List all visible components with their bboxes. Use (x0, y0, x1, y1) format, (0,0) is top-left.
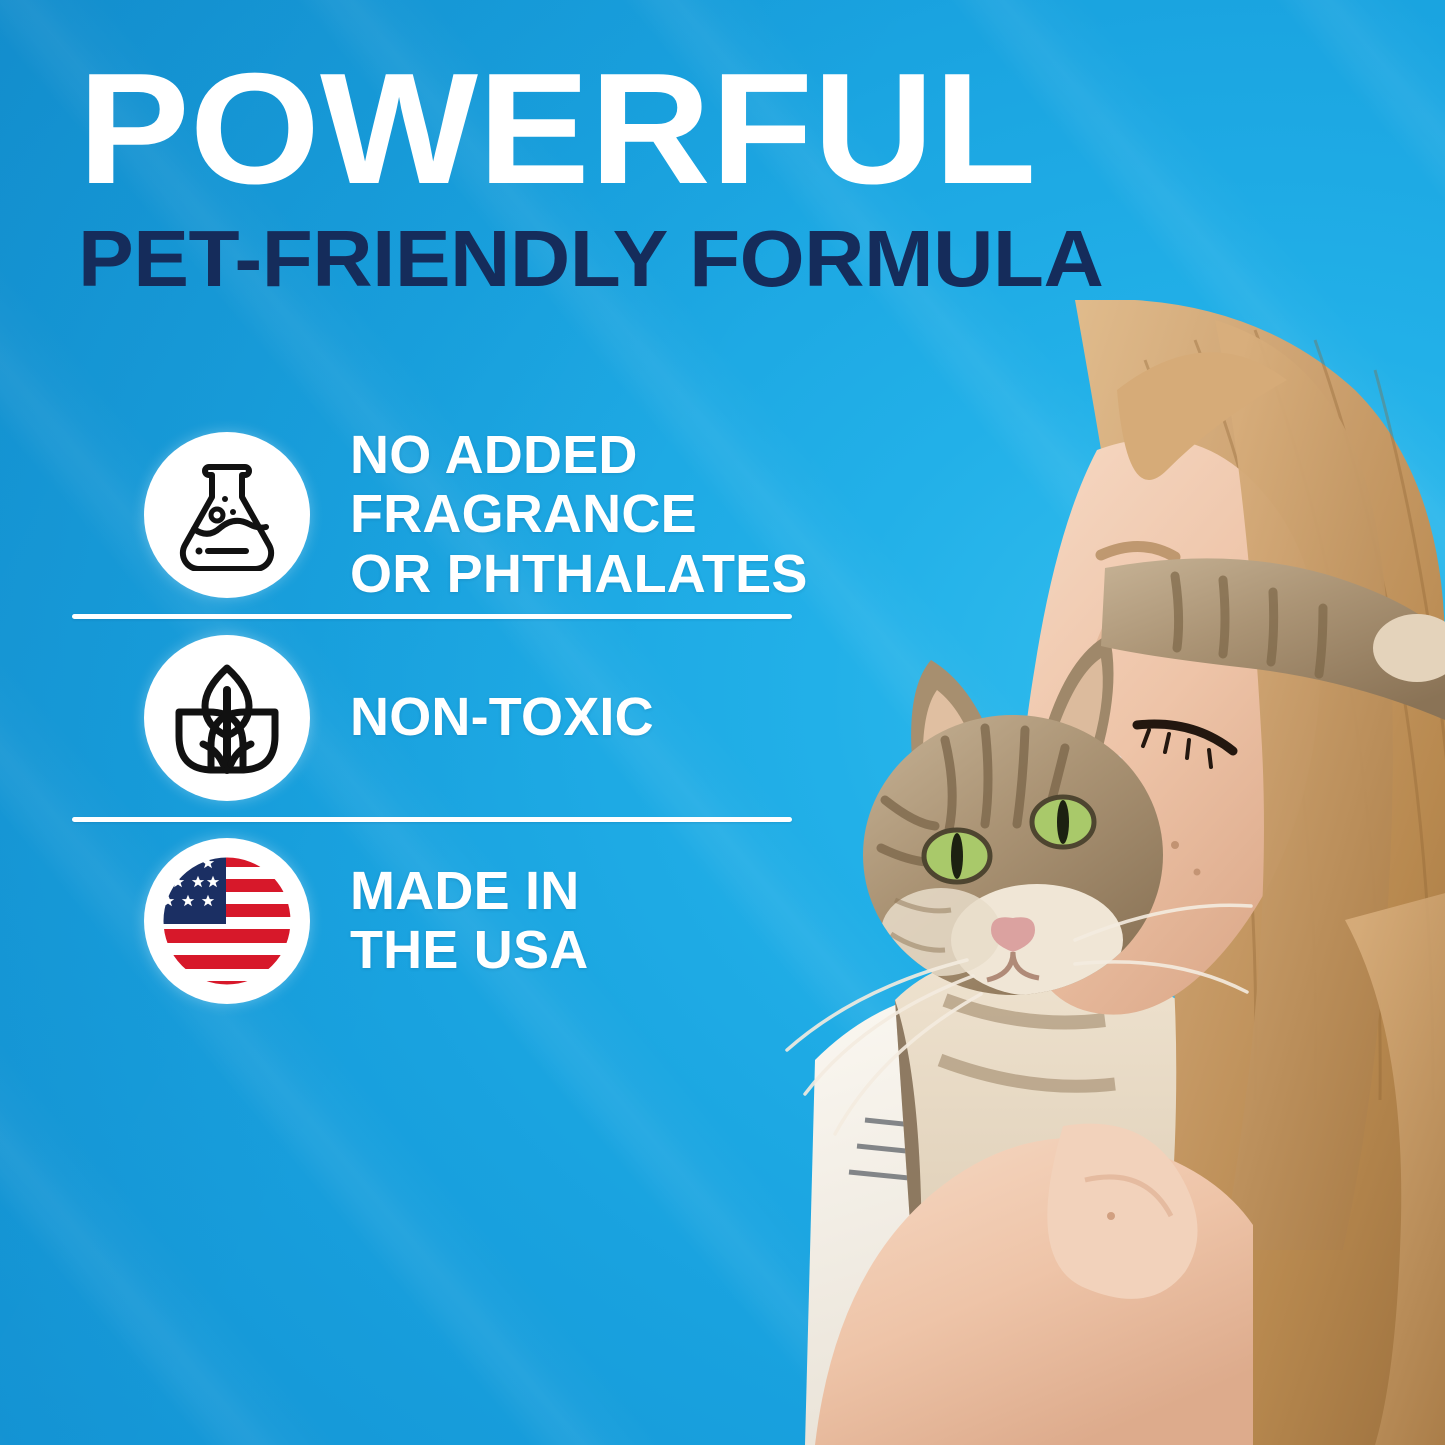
headline-block: POWERFUL PET-FRIENDLY FORMULA (78, 52, 1208, 299)
usa-flag-icon-badge (144, 838, 310, 1004)
feature-row-no-added-fragrance: NO ADDED FRAGRANCE OR PHTHALATES (72, 420, 902, 610)
plant-leaf-icon-badge (144, 635, 310, 801)
feature-divider-2 (72, 817, 792, 822)
feature-list: NO ADDED FRAGRANCE OR PHTHALATES NON-TOX (72, 420, 902, 1016)
feature-label-no-added-fragrance: NO ADDED FRAGRANCE OR PHTHALATES (350, 426, 808, 604)
plant-leaf-icon (173, 662, 281, 774)
feature-row-made-in-usa: MADE IN THE USA (72, 826, 902, 1016)
feature-divider-1 (72, 614, 792, 619)
flask-icon (175, 459, 279, 571)
headline-secondary: PET-FRIENDLY FORMULA (78, 219, 1259, 299)
feature-label-made-in-usa: MADE IN THE USA (350, 862, 588, 981)
usa-flag-icon (152, 846, 302, 996)
flask-icon-badge (144, 432, 310, 598)
product-feature-banner: POWERFUL PET-FRIENDLY FORMULA (0, 0, 1445, 1445)
headline-primary: POWERFUL (78, 52, 1276, 207)
feature-label-non-toxic: NON-TOXIC (350, 688, 654, 747)
feature-row-non-toxic: NON-TOXIC (72, 623, 902, 813)
